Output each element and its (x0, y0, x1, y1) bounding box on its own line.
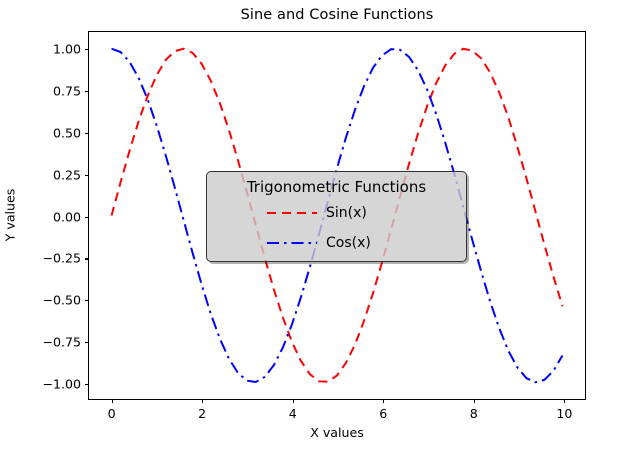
y-tick-mark (85, 384, 89, 385)
x-tick-mark (202, 399, 203, 403)
y-tick-mark (85, 49, 89, 50)
legend-entry: Cos(x) (217, 228, 456, 258)
x-axis-label: X values (88, 425, 586, 440)
y-tick-label: 1.00 (53, 41, 81, 56)
x-tick-label: 6 (379, 406, 387, 421)
y-tick-mark (85, 258, 89, 259)
x-tick-mark (112, 399, 113, 403)
y-tick-mark (85, 91, 89, 92)
x-tick-label: 4 (289, 406, 297, 421)
y-tick-label: 0.25 (53, 167, 81, 182)
x-tick-label: 8 (470, 406, 478, 421)
legend-line-sample (267, 236, 317, 250)
y-tick-mark (85, 300, 89, 301)
legend-title: Trigonometric Functions (217, 176, 456, 198)
y-tick-label: −0.75 (42, 335, 81, 350)
y-tick-mark (85, 217, 89, 218)
matplotlib-figure: Sine and Cosine Functions 1.000.750.500.… (0, 0, 630, 449)
y-tick-label: −0.25 (42, 251, 81, 266)
y-tick-label: −1.00 (42, 377, 81, 392)
x-tick-label: 10 (556, 406, 572, 421)
x-tick-mark (474, 399, 475, 403)
x-tick-mark (383, 399, 384, 403)
chart-title: Sine and Cosine Functions (88, 7, 586, 23)
y-tick-label: 0.75 (53, 83, 81, 98)
x-tick-label: 0 (108, 406, 116, 421)
legend-label: Cos(x) (326, 235, 371, 251)
legend-line-sample (267, 206, 317, 220)
legend-entries: Sin(x)Cos(x) (217, 198, 456, 258)
y-tick-label: −0.50 (42, 293, 81, 308)
legend-entry: Sin(x) (217, 198, 456, 228)
legend-label: Sin(x) (326, 205, 367, 221)
y-tick-label: 0.00 (53, 209, 81, 224)
y-tick-label: 0.50 (53, 125, 81, 140)
y-tick-mark (85, 175, 89, 176)
y-tick-mark (85, 342, 89, 343)
x-tick-label: 2 (198, 406, 206, 421)
legend-box: Trigonometric Functions Sin(x)Cos(x) (206, 171, 467, 262)
y-tick-mark (85, 133, 89, 134)
x-tick-mark (293, 399, 294, 403)
y-axis-label: Y values (3, 189, 18, 242)
x-tick-mark (564, 399, 565, 403)
